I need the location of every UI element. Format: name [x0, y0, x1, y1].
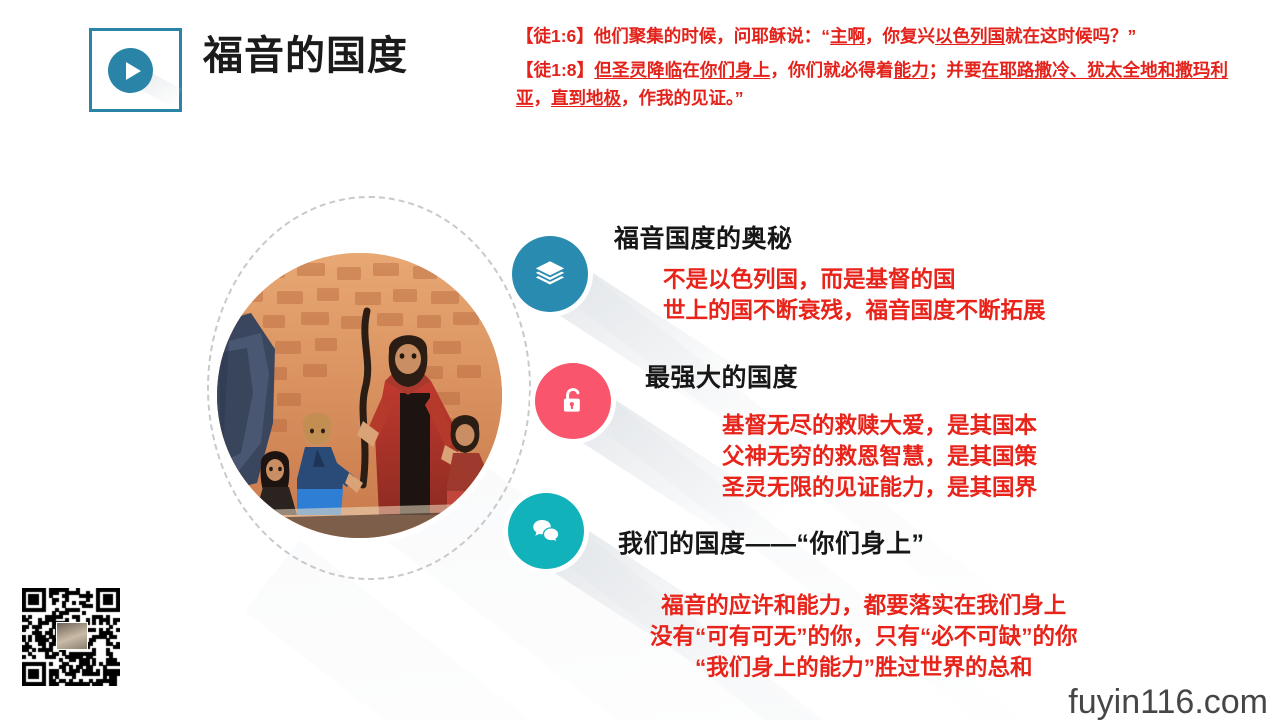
sections-0-icon-layers-icon[interactable]: [512, 236, 588, 312]
sections-2-icon-speech-bubbles-icon[interactable]: [508, 493, 584, 569]
sections-0-line-1: 世上的国不断衰残，福音国度不断拓展: [663, 295, 1046, 326]
speech-bubbles-icon: [529, 514, 563, 548]
sections-2-line-2: “我们身上的能力”胜过世界的总和: [650, 652, 1078, 683]
verse2-text-1: 在: [682, 60, 700, 80]
verse2-text-3: ；并要: [929, 60, 982, 80]
layers-icon: [533, 257, 567, 291]
sections-1-line-2: 圣灵无限的见证能力，是其国界: [722, 472, 1037, 503]
slide-header: 福音的国度 【徒1:6】他们聚集的时候，问耶稣说：“主啊，你复兴以色列国就在这时…: [0, 0, 1280, 170]
verse1-text-3: 就在这时候吗？”: [1005, 26, 1136, 46]
verse2-reference: 【徒1:8】: [516, 60, 594, 80]
slide-canvas: 福音的国度 【徒1:6】他们聚集的时候，问耶稣说：“主啊，你复兴以色列国就在这时…: [0, 0, 1280, 720]
verse2-underline-3: 能力: [894, 60, 929, 80]
scripture-verse-1: 【徒1:6】他们聚集的时候，问耶稣说：“主啊，你复兴以色列国就在这时候吗？”: [516, 22, 1228, 50]
verse1-text-1: 他们聚集的时候，问耶稣说：“: [594, 26, 830, 46]
play-button-icon: [108, 48, 153, 93]
verse2-underline-1: 但圣灵降临: [594, 60, 682, 80]
logo-mark: [89, 28, 182, 112]
verse1-reference: 【徒1:6】: [516, 26, 594, 46]
verse2-text-4: ，: [534, 88, 552, 108]
sections-1-icon-unlocked-padlock-icon[interactable]: [535, 363, 611, 439]
sections-0-heading: 福音国度的奥秘: [614, 219, 793, 255]
sections-2-line-1: 没有“可有可无”的你，只有“必不可缺”的你: [650, 621, 1078, 652]
sections-0-line-0: 不是以色列国，而是基督的国: [663, 264, 1046, 295]
verse2-text-2: ，你们就必得着: [770, 60, 893, 80]
verse2-underline-5: 直到地极: [551, 88, 621, 108]
sections-1-line-1: 父神无穷的救恩智慧，是其国策: [722, 441, 1037, 472]
sections-1-line-0: 基督无尽的救赎大爱，是其国本: [722, 410, 1037, 441]
site-watermark: fuyin116.com: [1068, 683, 1268, 720]
sections-2-line-0: 福音的应许和能力，都要落实在我们身上: [650, 590, 1078, 621]
verse1-underline-2: 以色列国: [935, 26, 1005, 46]
page-title: 福音的国度: [203, 36, 408, 76]
sections-1-heading: 最强大的国度: [645, 358, 798, 394]
sections-2-lines: 福音的应许和能力，都要落实在我们身上 没有“可有可无”的你，只有“必不可缺”的你…: [650, 590, 1078, 683]
verse2-text-5: ，作我的见证。”: [621, 88, 744, 108]
verse1-text-2: ，你复兴: [865, 26, 935, 46]
verse1-underline-1: 主啊: [830, 26, 865, 46]
unlocked-padlock-icon: [556, 384, 590, 418]
scripture-block: 【徒1:6】他们聚集的时候，问耶稣说：“主啊，你复兴以色列国就在这时候吗？” 【…: [516, 22, 1228, 118]
qr-center-logo: [56, 622, 88, 650]
verse2-underline-2: 你们身上: [700, 60, 770, 80]
scripture-verse-2: 【徒1:8】但圣灵降临在你们身上，你们就必得着能力；并要在耶路撒冷、犹太全地和撒…: [516, 56, 1228, 112]
sections-1-lines: 基督无尽的救赎大爱，是其国本 父神无穷的救恩智慧，是其国策 圣灵无限的见证能力，…: [722, 410, 1037, 503]
sections-0-lines: 不是以色列国，而是基督的国 世上的国不断衰残，福音国度不断拓展: [663, 264, 1046, 326]
qr-code[interactable]: [22, 588, 120, 686]
sections-2-heading: 我们的国度——“你们身上”: [618, 524, 925, 560]
